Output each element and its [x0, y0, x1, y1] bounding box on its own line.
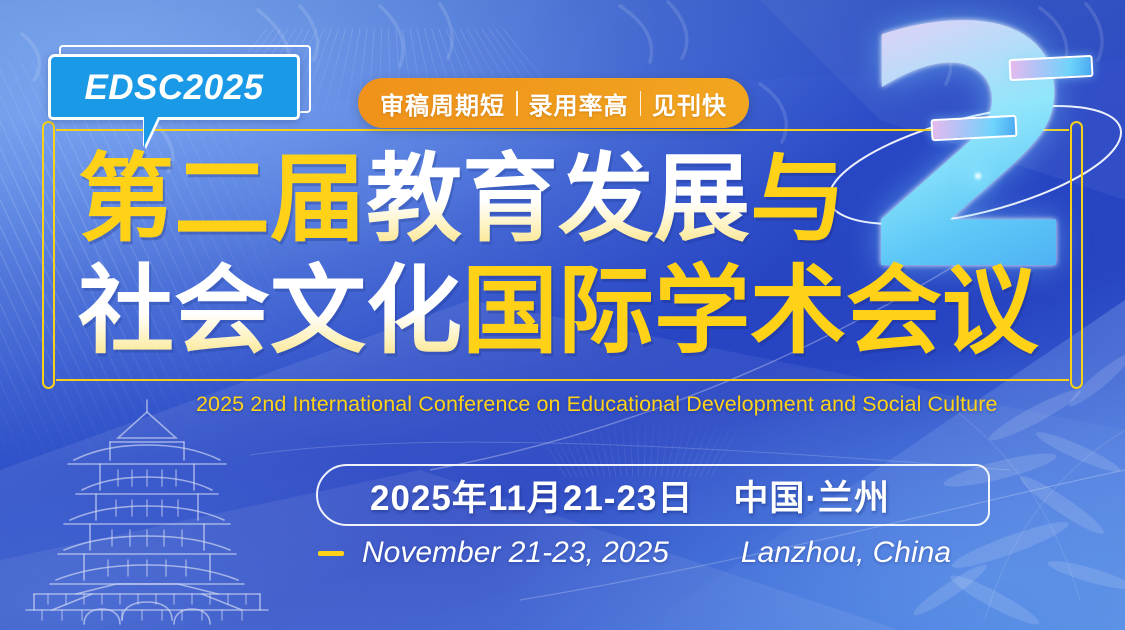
location-en: Lanzhou, China [741, 536, 951, 570]
yellow-dash-icon [318, 551, 344, 556]
date-en: November 21-23, 2025 [362, 536, 669, 570]
title-char: 会 [174, 255, 270, 367]
frame-left-bar [42, 121, 55, 389]
title-char: 第 [78, 143, 174, 255]
title-char: 术 [750, 255, 846, 367]
title-char: 届 [270, 143, 366, 255]
conference-code-text: EDSC2025 [84, 70, 263, 105]
title-char: 发 [558, 143, 654, 255]
title-char: 社 [78, 255, 174, 367]
title-line-1: 第二届教育发展与 [78, 143, 1058, 255]
highlights-pill: 审稿周期短 录用率高 见刊快 [358, 78, 749, 128]
title-char: 会 [846, 255, 942, 367]
title-char: 国 [462, 255, 558, 367]
badge-body: EDSC2025 [48, 54, 300, 120]
highlight-separator-2 [640, 91, 642, 116]
pagoda-tower-illustration [22, 398, 272, 630]
conference-subtitle-en: 2025 2nd International Conference on Edu… [196, 392, 998, 417]
conference-title: 第二届教育发展与 社会文化国际学术会议 [78, 143, 1058, 367]
title-line-2: 社会文化国际学术会议 [78, 255, 1058, 367]
date-cn: 2025年11月21-23日 [370, 470, 693, 521]
title-char: 化 [366, 255, 462, 367]
highlight-item-1: 审稿周期短 [380, 86, 505, 121]
title-char: 际 [558, 255, 654, 367]
title-char: 教 [366, 143, 462, 255]
accent-chip-lower [930, 115, 1017, 141]
date-location-en-row: November 21-23, 2025 Lanzhou, China [318, 536, 951, 570]
location-cn: 中国·兰州 [733, 470, 890, 521]
highlight-separator-1 [516, 91, 518, 116]
conference-banner: 2 EDSC2025 审稿周期短 录用率高 见刊快 第二届教育发展与 社会文化国… [0, 0, 1125, 630]
date-location-box: 2025年11月21-23日 中国·兰州 [316, 464, 990, 526]
title-char: 育 [462, 143, 558, 255]
accent-chip-upper [1008, 55, 1093, 81]
highlight-item-3: 见刊快 [652, 86, 727, 121]
title-char: 学 [654, 255, 750, 367]
conference-code-badge: EDSC2025 [48, 54, 300, 120]
title-char: 二 [174, 143, 270, 255]
title-char: 与 [750, 143, 846, 255]
highlight-item-2: 录用率高 [529, 86, 629, 121]
title-char: 议 [942, 255, 1038, 367]
frame-bottom-line [56, 379, 1069, 381]
title-char: 展 [654, 143, 750, 255]
title-char: 文 [270, 255, 366, 367]
